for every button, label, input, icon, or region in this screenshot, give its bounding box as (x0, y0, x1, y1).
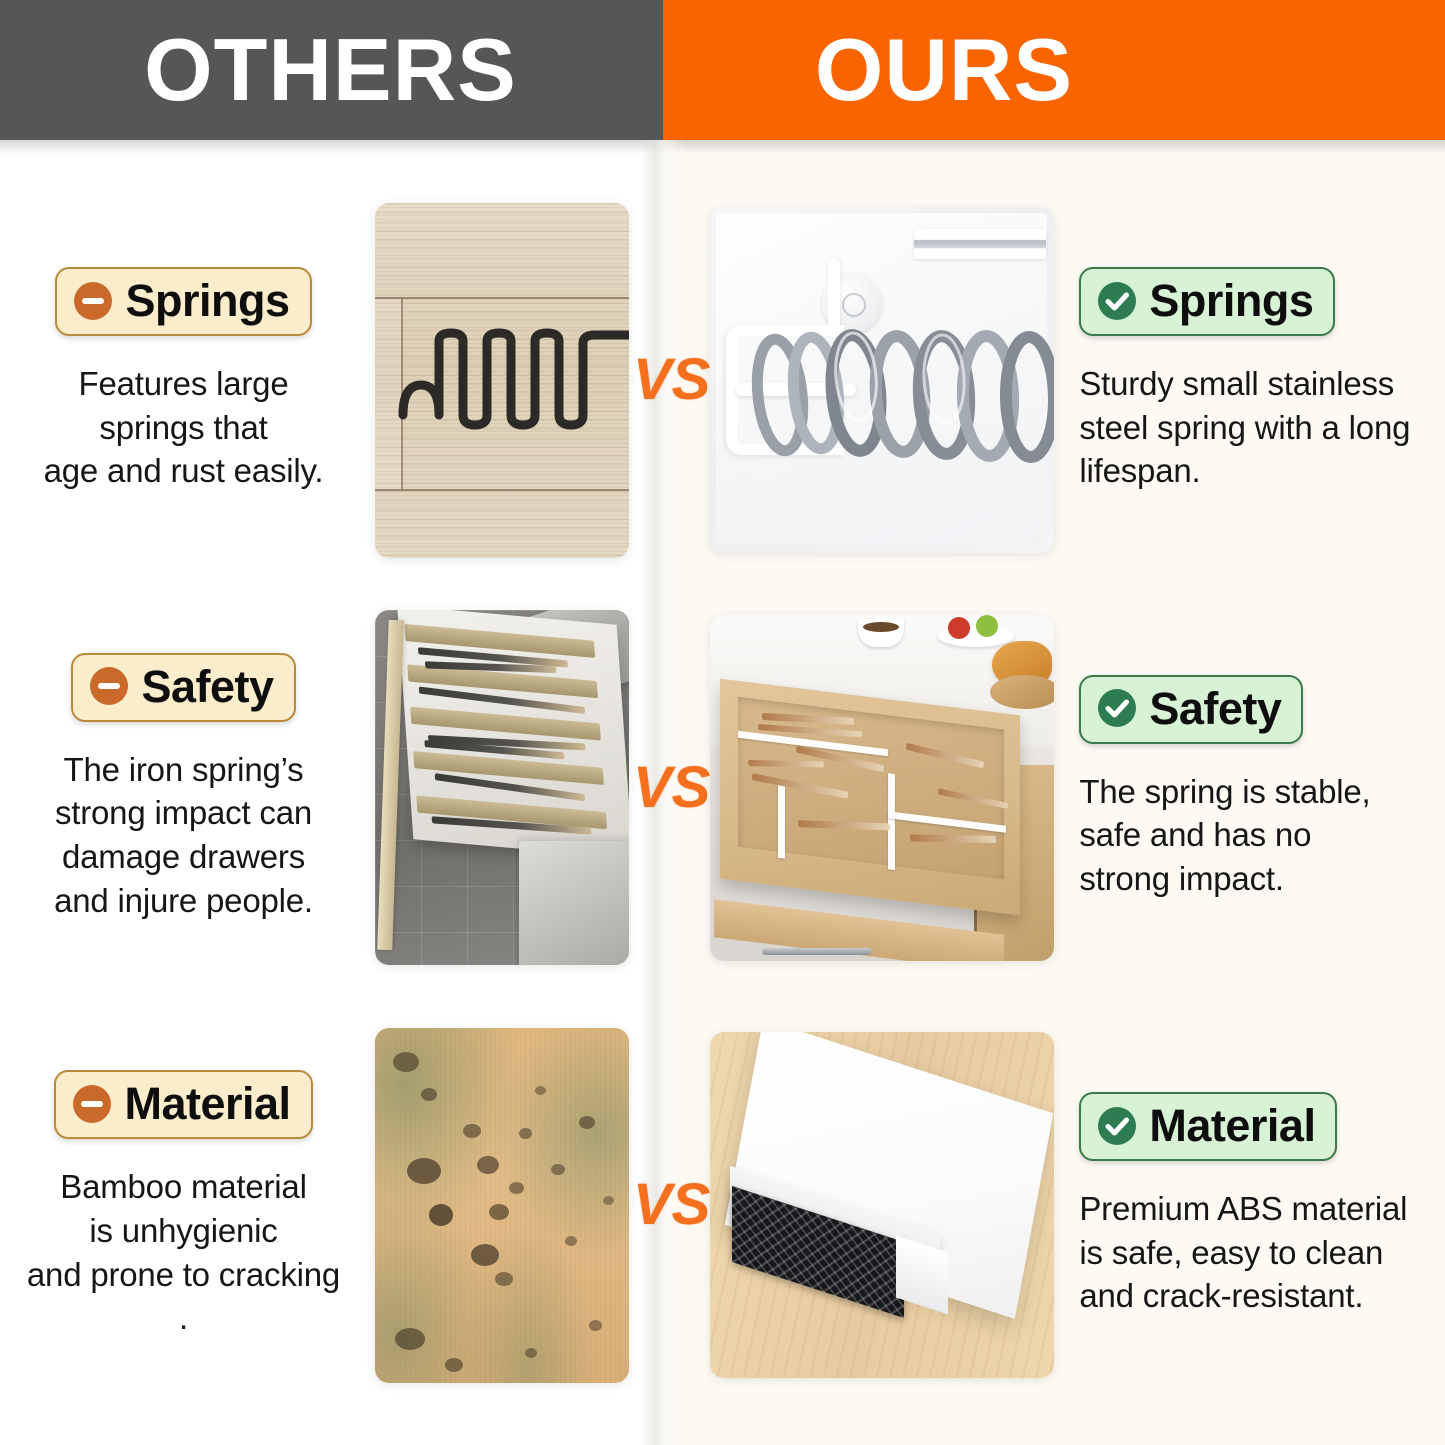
comparison-row-springs: Springs Features large springs that age … (0, 180, 1445, 580)
abs-organizer-graphic (710, 1032, 1054, 1378)
others-broken-drawer-photo (375, 610, 629, 965)
wood-panel-graphic (375, 203, 629, 558)
ours-badge-springs: Springs (1079, 267, 1335, 336)
ours-desc-safety: The spring is stable, safe and has no st… (1079, 770, 1370, 901)
others-badge-springs: Springs (55, 267, 311, 336)
spring-mechanism-graphic (710, 207, 1054, 553)
others-desc-material: Bamboo material is unhygienic and prone … (27, 1165, 340, 1339)
check-circle-icon (1097, 281, 1137, 321)
broken-drawer-graphic (375, 610, 629, 965)
coil-spring-graphic (710, 207, 1054, 553)
organized-drawer-graphic (710, 615, 1054, 961)
ours-image-col-material (710, 1032, 1057, 1378)
minus-circle-icon (89, 666, 129, 706)
minus-circle-icon (73, 281, 113, 321)
ours-desc-material: Premium ABS material is safe, easy to cl… (1079, 1187, 1407, 1318)
comparison-row-material: Material Bamboo material is unhygienic a… (0, 1005, 1445, 1405)
others-badge-label-safety: Safety (141, 664, 273, 709)
vs-col-springs: VS (633, 351, 710, 409)
ours-abs-organizer-photo (710, 1032, 1054, 1378)
others-text-material: Material Bamboo material is unhygienic a… (0, 1070, 375, 1339)
others-text-springs: Springs Features large springs that age … (0, 267, 375, 493)
ours-text-material: Material Premium ABS material is safe, e… (1057, 1092, 1445, 1318)
others-text-safety: Safety The iron spring’s strong impact c… (0, 653, 375, 922)
ours-badge-safety: Safety (1079, 675, 1303, 744)
header-others-title: OTHERS (144, 26, 517, 114)
vs-col-safety: VS (633, 759, 710, 817)
others-image-col-material (375, 1028, 633, 1383)
ours-desc-springs: Sturdy small stainless steel spring with… (1079, 362, 1410, 493)
others-desc-springs: Features large springs that age and rust… (44, 362, 324, 493)
comparison-infographic: OTHERS OURS Springs Features large sprin… (0, 0, 1445, 1445)
others-badge-material: Material (54, 1070, 312, 1139)
ours-badge-material: Material (1079, 1092, 1337, 1161)
others-badge-label-springs: Springs (125, 278, 289, 323)
header-ours-title: OURS (815, 26, 1073, 114)
ours-spring-mechanism-photo (710, 207, 1054, 553)
ours-image-col-springs (710, 207, 1057, 553)
vs-col-material: VS (633, 1176, 710, 1234)
minus-circle-icon (72, 1084, 112, 1124)
vs-marker-material: VS (633, 1176, 710, 1234)
ours-badge-label-material: Material (1149, 1103, 1315, 1148)
others-desc-safety: The iron spring’s strong impact can dama… (54, 748, 313, 922)
check-circle-icon (1097, 1106, 1137, 1146)
others-image-col-springs (375, 203, 633, 558)
zigzag-spring-graphic (375, 203, 629, 558)
ours-text-safety: Safety The spring is stable, safe and ha… (1057, 675, 1445, 901)
check-circle-icon (1097, 688, 1137, 728)
others-badge-safety: Safety (71, 653, 295, 722)
ours-organized-drawer-photo (710, 615, 1054, 961)
others-badge-label-material: Material (124, 1081, 290, 1126)
others-image-col-safety (375, 610, 633, 965)
ours-text-springs: Springs Sturdy small stainless steel spr… (1057, 267, 1445, 493)
ours-badge-label-safety: Safety (1149, 686, 1281, 731)
vs-marker-safety: VS (633, 759, 710, 817)
ours-image-col-safety (710, 615, 1057, 961)
header-others: OTHERS (0, 0, 663, 140)
comparison-row-safety: Safety The iron spring’s strong impact c… (0, 600, 1445, 975)
header-ours: OURS (663, 0, 1445, 140)
header-bar: OTHERS OURS (0, 0, 1445, 140)
others-mouldy-bamboo-photo (375, 1028, 629, 1383)
others-spring-wood-photo (375, 203, 629, 558)
ours-badge-label-springs: Springs (1149, 278, 1313, 323)
vs-marker-springs: VS (633, 351, 710, 409)
mouldy-bamboo-graphic (375, 1028, 629, 1383)
